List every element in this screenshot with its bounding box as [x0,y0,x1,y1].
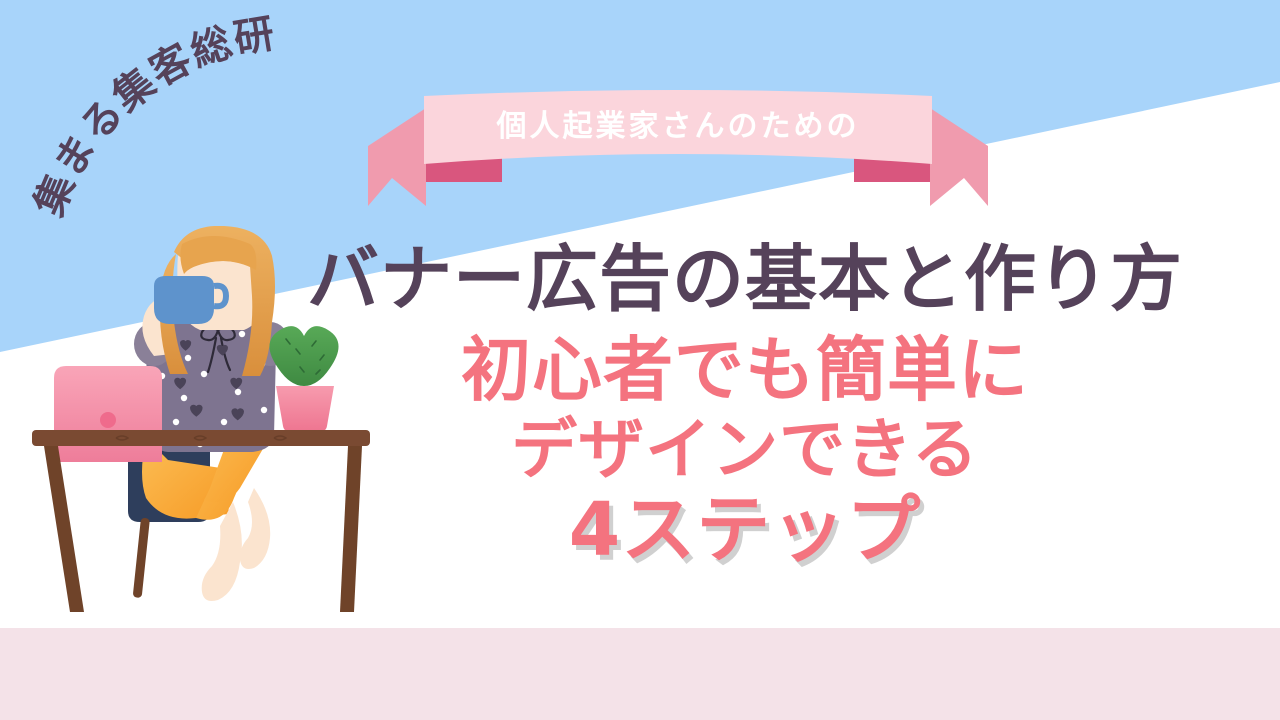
ribbon-banner: 個人起業家さんのための [368,78,988,218]
headline-block: バナー広告の基本と作り方 初心者でも簡単に デザインできる 4ステップ [280,236,1210,570]
laptop [54,366,162,462]
subtitle-line-1: 初心者でも簡単に [280,330,1210,410]
banner-image: 集まる集客総研 [0,0,1280,720]
laptop-logo-dot [100,412,116,428]
ribbon-label: 個人起業家さんのための [368,104,988,150]
bottom-color-band [0,628,1280,720]
subtitle-line-2: デザインできる [280,410,1210,490]
page-title: バナー広告の基本と作り方 [280,236,1210,322]
subtitle-line-3: 4ステップ [280,490,1210,570]
subtitle-lines: 初心者でも簡単に デザインできる 4ステップ [280,330,1210,570]
